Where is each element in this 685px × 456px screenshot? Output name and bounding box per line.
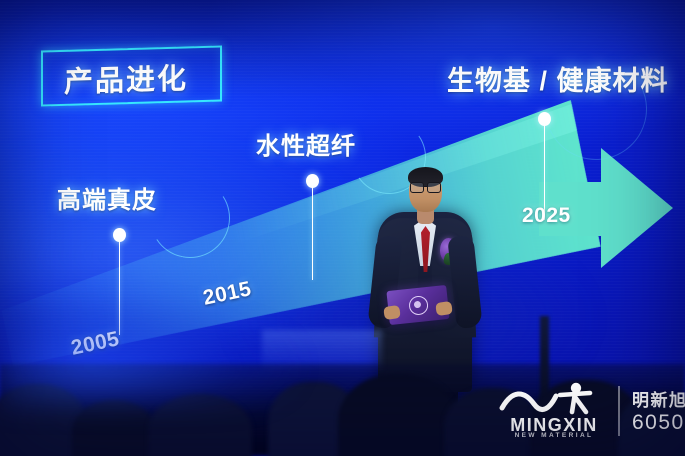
- audience-blue-glow: [0, 300, 300, 410]
- headline-bio-health-material: 生物基 / 健康材料: [447, 59, 669, 98]
- milestone-label-2: 水性超纤: [256, 126, 356, 161]
- year-label-3: 2025: [522, 204, 571, 228]
- milestone-label-1: 高端真皮: [57, 180, 157, 215]
- brand-tagline-en: NEW MATERIAL: [498, 432, 610, 439]
- brand-name-cn: 明新旭腾: [632, 386, 685, 411]
- presentation-stage-screenshot: 产品进化 生物基 / 健康材料 高端真皮 2005 水性超纤 2015 2025: [0, 0, 685, 456]
- plaque-emblem-icon: [408, 295, 429, 316]
- stock-code: 605068: [632, 411, 685, 435]
- audience-head: [338, 374, 458, 456]
- glasses-lens-right: [427, 182, 441, 193]
- glasses-lens-left: [410, 182, 424, 193]
- brand-lockup: MINGXIN NEW MATERIAL 明新旭腾 605068: [498, 382, 680, 444]
- pin-stem: [312, 186, 314, 280]
- glasses-icon: [410, 182, 441, 191]
- brand-divider: [618, 386, 620, 436]
- page-title: 产品进化: [64, 55, 188, 100]
